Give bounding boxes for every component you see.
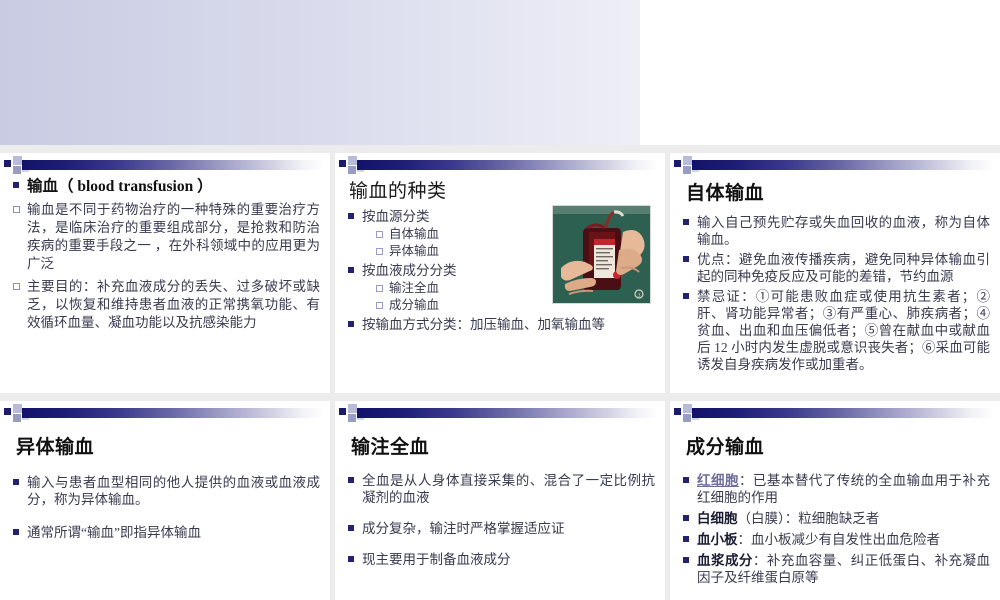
slide-body: 输血的种类 xyxy=(335,177,665,393)
bullet-text: 输注全血 xyxy=(389,281,439,295)
list-item: 禁忌证：①可能患败血症或使用抗生素者；②肝、肾功能异常者；③有严重心、肺疾病者；… xyxy=(682,288,990,373)
bullet-text: 全血是从人身体直接采集的、混合了一定比例抗凝剂的血液 xyxy=(362,473,655,505)
slide-header-decoration xyxy=(335,156,665,174)
slide-title: 成分输血 xyxy=(686,435,990,460)
slide-header-decoration xyxy=(0,404,330,422)
deco-square-dark-icon xyxy=(339,408,346,415)
bullet-text: 按血液成分分类 xyxy=(362,263,457,278)
header-gradient-rule xyxy=(22,408,324,418)
deco-square-light-icon xyxy=(683,156,692,165)
top-band-white-area xyxy=(640,0,1000,145)
deco-square-mid-icon xyxy=(683,414,691,422)
bullet-text: 现主要用于制备血液成分 xyxy=(362,552,511,567)
deco-square-dark-icon xyxy=(4,408,11,415)
deco-square-dark-icon xyxy=(4,160,11,167)
bullet-text: 按血源分类 xyxy=(362,209,430,224)
slide-body: 输血（ blood transfusion ） 输血是不同于药物治疗的一种特殊的… xyxy=(0,177,330,393)
sub-bullet-list: 自体输血 异体输血 xyxy=(362,226,547,259)
list-item: 异体输血 xyxy=(376,243,547,259)
bullet-text: 主要目的：补充血液成分的丢失、过多破坏或缺乏，以恢复和维持患者血液的正常携氧功能… xyxy=(27,279,320,330)
header-gradient-rule xyxy=(692,408,994,418)
slide-header-decoration xyxy=(670,156,1000,174)
list-item: 血浆成分：补充血容量、纠正低蛋白、补充凝血因子及纤维蛋白原等 xyxy=(682,552,990,586)
deco-square-dark-icon xyxy=(674,408,681,415)
bullet-list: 输入自己预先贮存或失血回收的血液，称为自体输血。 优点：避免血液传播疾病，避免同… xyxy=(682,214,990,373)
slide-thumbnail-component[interactable]: 成分输血 红细胞：已基本替代了传统的全血输血用于补充红细胞的作用 白细胞（白膜）… xyxy=(670,401,1000,600)
list-item: 通常所谓“输血”即指异体输血 xyxy=(12,524,320,541)
blood-bag-photo: 3 xyxy=(552,205,651,304)
bullet-text: 自体输血 xyxy=(389,227,439,241)
bullet-label: 血浆成分 xyxy=(697,553,753,568)
deco-square-light-icon xyxy=(348,156,357,165)
gutter-horizontal xyxy=(0,393,1000,401)
bullet-text: 输入自己预先贮存或失血回收的血液，称为自体输血。 xyxy=(697,215,990,247)
bullet-text: 异体输血 xyxy=(389,244,439,258)
list-item: 现主要用于制备血液成分 xyxy=(347,551,655,568)
bullet-list: 按血源分类 自体输血 异体输血 按血液成分分类 输注全血 成分输血 xyxy=(347,208,547,313)
slide-header-decoration xyxy=(670,404,1000,422)
deco-square-mid-icon xyxy=(348,166,356,174)
bullet-list: 全血是从人身体直接采集的、混合了一定比例抗凝剂的血液 成分复杂，输注时严格掌握适… xyxy=(347,472,655,568)
list-item: 按血液成分分类 输注全血 成分输血 xyxy=(347,262,547,313)
list-item: 白细胞（白膜）：粒细胞缺乏者 xyxy=(682,510,990,527)
slide-body: 自体输血 输入自己预先贮存或失血回收的血液，称为自体输血。 优点：避免血液传播疾… xyxy=(670,177,1000,393)
bullet-list: 红细胞：已基本替代了传统的全血输血用于补充红细胞的作用 白细胞（白膜）：粒细胞缺… xyxy=(682,472,990,586)
header-gradient-rule xyxy=(22,160,324,170)
list-item: 按血源分类 自体输血 异体输血 xyxy=(347,208,547,259)
bullet-text: 成分输血 xyxy=(389,298,439,312)
bullet-text: 成分复杂，输注时严格掌握适应证 xyxy=(362,521,565,536)
deco-square-dark-icon xyxy=(339,160,346,167)
list-item: 成分输血 xyxy=(376,297,547,313)
list-item: 输入与患者血型相同的他人提供的血液或血液成分，称为异体输血。 xyxy=(12,474,320,508)
sub-bullet-list: 输注全血 成分输血 xyxy=(362,280,547,313)
deco-square-mid-icon xyxy=(683,166,691,174)
list-item: 按输血方式分类：加压输血、加氧输血等 xyxy=(347,316,647,333)
deco-square-mid-icon xyxy=(13,414,21,422)
red-blood-cell-link[interactable]: 红细胞 xyxy=(697,473,739,488)
bullet-text: 通常所谓“输血”即指异体输血 xyxy=(27,525,201,540)
bullet-label: 白细胞 xyxy=(697,511,738,526)
slide-grid: 输血（ blood transfusion ） 输血是不同于药物治疗的一种特殊的… xyxy=(0,153,1000,600)
deco-square-mid-icon xyxy=(13,166,21,174)
deco-square-light-icon xyxy=(13,156,22,165)
list-item: 输注全血 xyxy=(376,280,547,296)
slide-thumbnail-autologous[interactable]: 自体输血 输入自己预先贮存或失血回收的血液，称为自体输血。 优点：避免血液传播疾… xyxy=(670,153,1000,393)
slide-title: 异体输血 xyxy=(16,435,320,460)
list-item: 自体输血 xyxy=(376,226,547,242)
bullet-text: 按输血方式分类：加压输血、加氧输血等 xyxy=(362,317,605,332)
row-separator-top xyxy=(0,145,1000,153)
deco-square-mid-icon xyxy=(348,414,356,422)
slide-header-decoration xyxy=(335,404,665,422)
bullet-text: ：血小板减少有自发性出血危险者 xyxy=(738,532,941,547)
list-item: 红细胞：已基本替代了传统的全血输血用于补充红细胞的作用 xyxy=(682,472,990,506)
header-gradient-rule xyxy=(357,408,659,418)
slide-thumbnail-transfusion-intro[interactable]: 输血（ blood transfusion ） 输血是不同于药物治疗的一种特殊的… xyxy=(0,153,330,393)
bullet-text: （白膜）：粒细胞缺乏者 xyxy=(738,511,880,526)
header-gradient-rule xyxy=(692,160,994,170)
slide-title: 输注全血 xyxy=(351,435,655,460)
slide-body: 异体输血 输入与患者血型相同的他人提供的血液或血液成分，称为异体输血。 通常所谓… xyxy=(0,425,330,600)
slide-header-decoration xyxy=(0,156,330,174)
list-item: 输血是不同于药物治疗的一种特殊的重要治疗方法，是临床治疗的重要组成部分，是抢救和… xyxy=(12,201,320,273)
svg-text:3: 3 xyxy=(638,293,641,299)
bullet-text: 优点：避免血液传播疾病，避免同种异体输血引起的同种免疫反应及可能的差错，节约血源 xyxy=(697,252,990,284)
slide-body: 成分输血 红细胞：已基本替代了传统的全血输血用于补充红细胞的作用 白细胞（白膜）… xyxy=(670,425,1000,600)
bullet-text: 输血是不同于药物治疗的一种特殊的重要治疗方法，是临床治疗的重要组成部分，是抢救和… xyxy=(27,202,320,271)
bullet-label: 血小板 xyxy=(697,532,738,547)
list-item: 主要目的：补充血液成分的丢失、过多破坏或缺乏，以恢复和维持患者血液的正常携氧功能… xyxy=(12,278,320,332)
bullet-text: ：已基本替代了传统的全血输血用于补充红细胞的作用 xyxy=(697,473,990,505)
bullet-text: 输入与患者血型相同的他人提供的血液或血液成分，称为异体输血。 xyxy=(27,475,320,507)
bullet-text: 禁忌证：①可能患败血症或使用抗生素者；②肝、肾功能异常者；③有严重心、肺疾病者；… xyxy=(697,289,990,372)
bullet-list: 输血（ blood transfusion ） 输血是不同于药物治疗的一种特殊的… xyxy=(12,177,320,332)
list-item: 成分复杂，输注时严格掌握适应证 xyxy=(347,520,655,537)
slide-thumbnail-allogeneic[interactable]: 异体输血 输入与患者血型相同的他人提供的血液或血液成分，称为异体输血。 通常所谓… xyxy=(0,401,330,600)
bullet-list: 输入与患者血型相同的他人提供的血液或血液成分，称为异体输血。 通常所谓“输血”即… xyxy=(12,474,320,541)
slide-title-bullet: 输血（ blood transfusion ） xyxy=(12,177,320,197)
deco-square-light-icon xyxy=(348,404,357,413)
slide-title: 输血的种类 xyxy=(349,179,655,204)
list-item: 优点：避免血液传播疾病，避免同种异体输血引起的同种免疫反应及可能的差错，节约血源 xyxy=(682,251,990,285)
bullet-list-last: 按输血方式分类：加压输血、加氧输血等 xyxy=(347,316,647,333)
slide-thumbnail-whole-blood[interactable]: 输注全血 全血是从人身体直接采集的、混合了一定比例抗凝剂的血液 成分复杂，输注时… xyxy=(335,401,665,600)
list-item: 血小板：血小板减少有自发性出血危险者 xyxy=(682,531,990,548)
header-gradient-rule xyxy=(357,160,659,170)
list-item: 全血是从人身体直接采集的、混合了一定比例抗凝剂的血液 xyxy=(347,472,655,506)
handout-page: 输血（ blood transfusion ） 输血是不同于药物治疗的一种特殊的… xyxy=(0,0,1000,600)
slide-thumbnail-transfusion-types[interactable]: 输血的种类 xyxy=(335,153,665,393)
slide-title: 自体输血 xyxy=(686,181,990,206)
deco-square-light-icon xyxy=(683,404,692,413)
deco-square-light-icon xyxy=(13,404,22,413)
deco-square-dark-icon xyxy=(674,160,681,167)
slide-body: 输注全血 全血是从人身体直接采集的、混合了一定比例抗凝剂的血液 成分复杂，输注时… xyxy=(335,425,665,600)
list-item: 输入自己预先贮存或失血回收的血液，称为自体输血。 xyxy=(682,214,990,248)
page-title: 输血（ blood transfusion ） xyxy=(27,178,213,195)
